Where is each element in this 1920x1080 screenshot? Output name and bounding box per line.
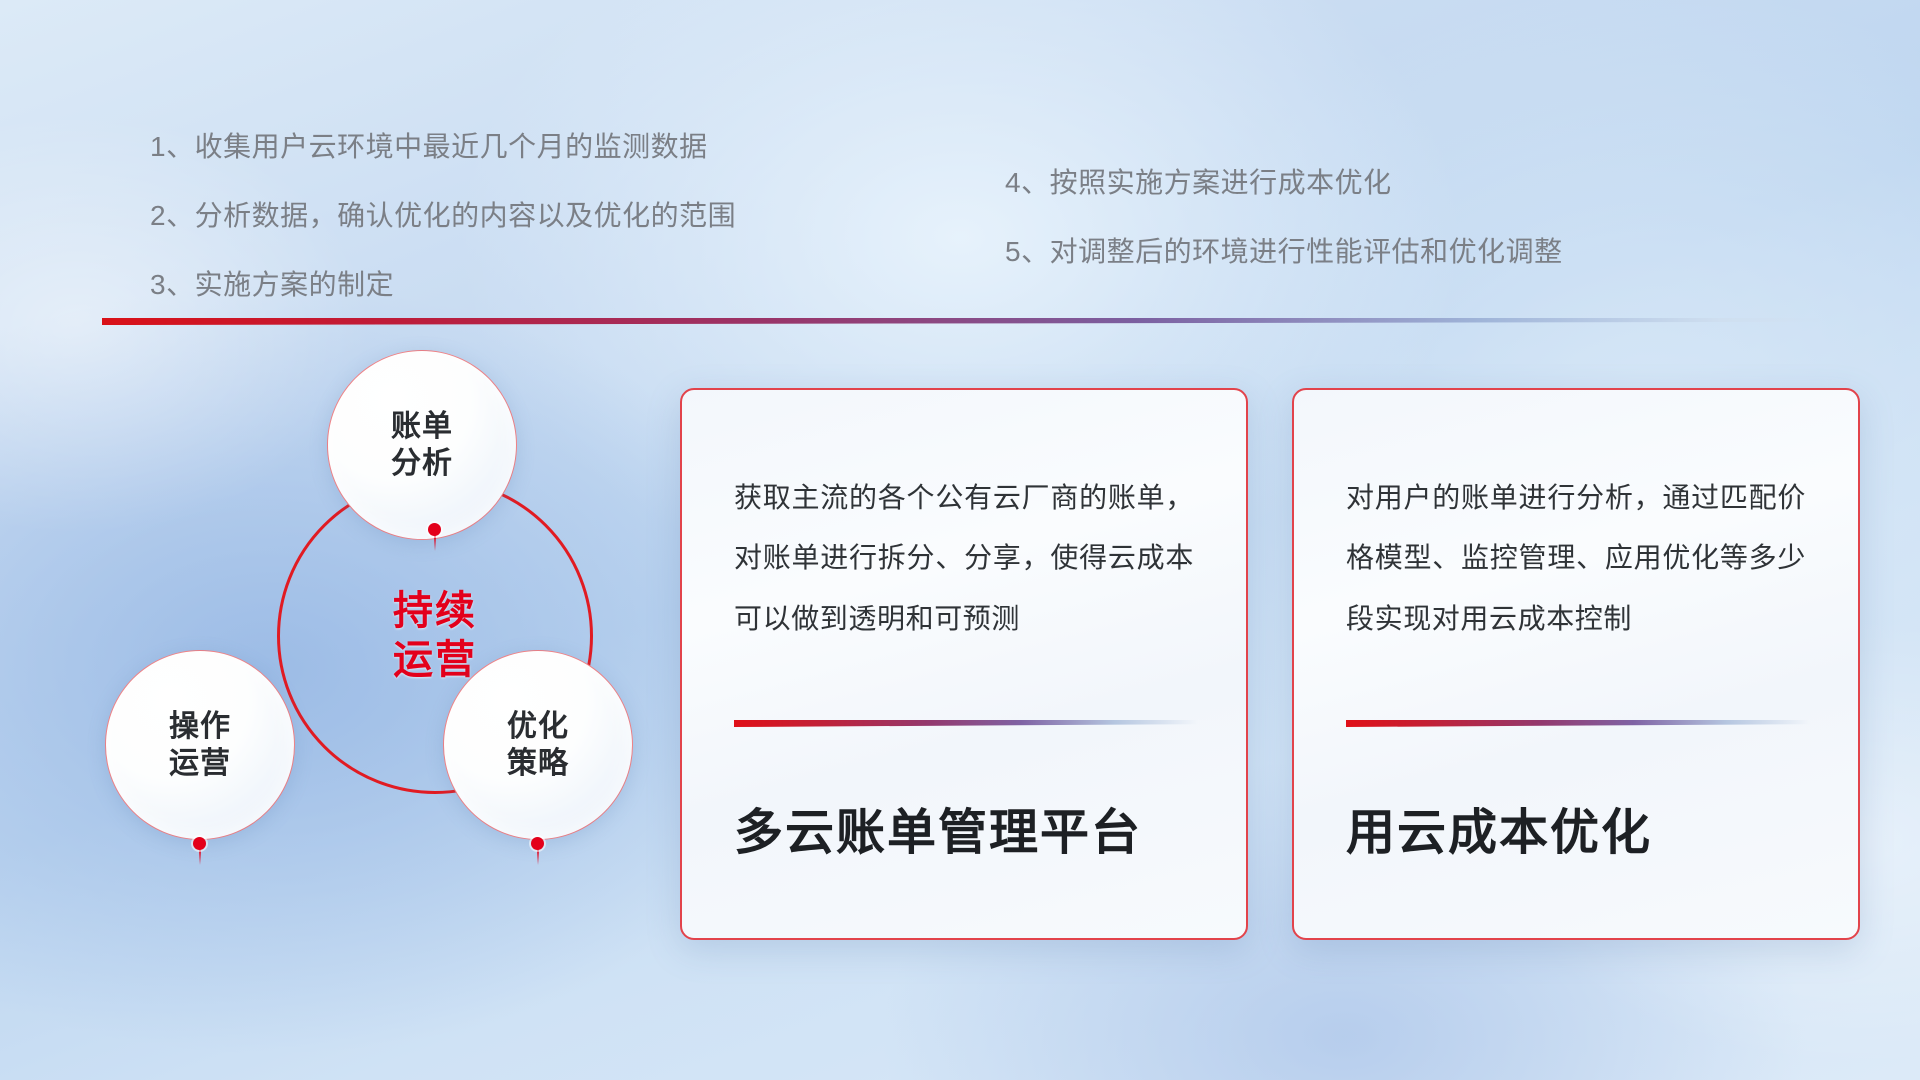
diagram-connector-stem	[537, 849, 539, 865]
diagram-node-bill-analysis[interactable]: 账单分析	[327, 350, 517, 540]
diagram-node-dot	[531, 837, 544, 850]
diagram-node-ops-operation[interactable]: 操作运营	[105, 650, 295, 840]
card-title: 多云账单管理平台	[734, 793, 1194, 938]
feature-card-cloud-cost-optimization[interactable]: 对用户的账单进行分析，通过匹配价格模型、监控管理、应用优化等多少段实现对用云成本…	[1292, 388, 1860, 940]
card-title: 用云成本优化	[1346, 793, 1806, 938]
diagram-center-text: 持续运营	[393, 587, 477, 685]
diagram-node-label: 账单分析	[391, 408, 453, 483]
card-body-text: 获取主流的各个公有云厂商的账单，对账单进行拆分、分享，使得云成本可以做到透明和可…	[734, 468, 1194, 649]
diagram-node-label: 优化策略	[507, 708, 569, 783]
process-steps-right: 4、按照实施方案进行成本优化 5、对调整后的环境进行性能评估和优化调整	[1005, 161, 1563, 299]
diagram-node-dot	[193, 837, 206, 850]
process-step-item: 4、按照实施方案进行成本优化	[1005, 161, 1563, 201]
process-step-item: 3、实施方案的制定	[150, 263, 736, 303]
process-steps-left: 1、收集用户云环境中最近几个月的监测数据 2、分析数据，确认优化的内容以及优化的…	[150, 125, 736, 332]
diagram-node-dot	[428, 523, 441, 536]
diagram-connector-stem	[434, 535, 436, 551]
diagram-connector-stem	[199, 849, 201, 865]
feature-card-multi-cloud-billing-platform[interactable]: 获取主流的各个公有云厂商的账单，对账单进行拆分、分享，使得云成本可以做到透明和可…	[680, 388, 1248, 940]
card-body-text: 对用户的账单进行分析，通过匹配价格模型、监控管理、应用优化等多少段实现对用云成本…	[1346, 468, 1806, 649]
diagram-node-optimize-strategy[interactable]: 优化策略	[443, 650, 633, 840]
slide-canvas: 1、收集用户云环境中最近几个月的监测数据 2、分析数据，确认优化的内容以及优化的…	[0, 0, 1920, 1080]
process-step-item: 5、对调整后的环境进行性能评估和优化调整	[1005, 230, 1563, 270]
card-divider-bar	[1346, 720, 1810, 727]
card-divider-bar	[734, 720, 1198, 727]
process-step-item: 1、收集用户云环境中最近几个月的监测数据	[150, 125, 736, 165]
diagram-node-label: 操作运营	[169, 708, 231, 783]
section-divider-bar	[102, 318, 1824, 325]
continuous-operation-diagram: 持续运营 账单分析 操作运营 优化策略	[95, 350, 635, 950]
process-step-item: 2、分析数据，确认优化的内容以及优化的范围	[150, 194, 736, 234]
